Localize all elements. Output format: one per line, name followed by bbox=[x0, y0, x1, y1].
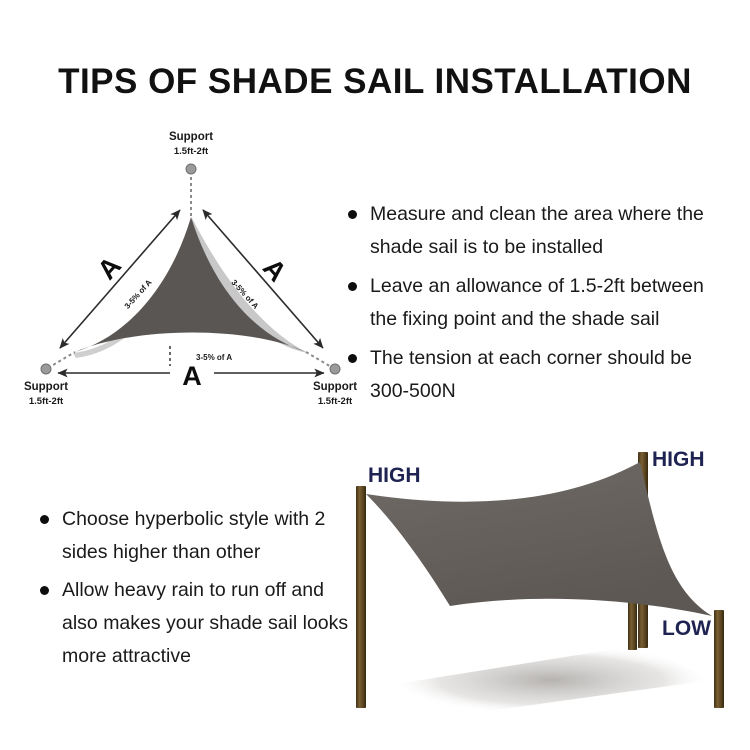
side-length-label-bottom: A bbox=[182, 361, 202, 391]
support-label-bottom-left-word: Support bbox=[24, 381, 68, 393]
post-front-low bbox=[714, 610, 724, 708]
hyperbolic-style-tips-list: Choose hyperbolic style with 2 sides hig… bbox=[40, 503, 352, 678]
support-label-top-measure: 1.5ft-2ft bbox=[174, 146, 209, 157]
corner-label-left-high: HIGH bbox=[368, 464, 421, 487]
list-item-text: Leave an allowance of 1.5-2ft between th… bbox=[370, 275, 704, 330]
list-item: Measure and clean the area where the sha… bbox=[348, 198, 720, 264]
tether-bottom-left bbox=[48, 352, 75, 368]
bullet-dot-icon bbox=[348, 210, 357, 219]
triangular-shade-sail-diagram: Support 1.5ft-2ft Support 1.5ft-2ft Supp… bbox=[18, 118, 363, 413]
installation-tips-list: Measure and clean the area where the sha… bbox=[348, 198, 720, 414]
anchor-point-bottom-left bbox=[41, 364, 51, 374]
list-item: Choose hyperbolic style with 2 sides hig… bbox=[40, 503, 352, 569]
list-item-text: Choose hyperbolic style with 2 sides hig… bbox=[62, 508, 325, 563]
anchor-point-top bbox=[186, 164, 196, 174]
anchor-point-bottom-right bbox=[330, 364, 340, 374]
list-item: Allow heavy rain to run off and also mak… bbox=[40, 574, 352, 673]
tether-bottom-right bbox=[306, 352, 333, 368]
post-left-high bbox=[356, 486, 366, 708]
page-title: TIPS OF SHADE SAIL INSTALLATION bbox=[0, 62, 750, 102]
bullet-dot-icon bbox=[40, 515, 49, 524]
ground-shadow bbox=[390, 645, 712, 715]
list-item-text: Measure and clean the area where the sha… bbox=[370, 203, 704, 258]
side-length-label-right: A bbox=[257, 253, 292, 288]
bullet-dot-icon bbox=[348, 354, 357, 363]
bullet-dot-icon bbox=[348, 282, 357, 291]
list-item-text: Allow heavy rain to run off and also mak… bbox=[62, 579, 348, 667]
bullet-dot-icon bbox=[40, 586, 49, 595]
hyperbolic-shade-sail-diagram: HIGH HIGH LOW bbox=[340, 430, 742, 722]
support-label-top-word: Support bbox=[169, 131, 213, 143]
side-length-label-left: A bbox=[92, 251, 127, 286]
list-item: The tension at each corner should be 300… bbox=[348, 342, 720, 408]
post-middle bbox=[628, 602, 637, 650]
support-label-bottom-left-measure: 1.5ft-2ft bbox=[29, 396, 64, 407]
list-item-text: The tension at each corner should be 300… bbox=[370, 347, 692, 402]
infographic-page: TIPS OF SHADE SAIL INSTALLATION bbox=[0, 0, 750, 750]
corner-label-front-low: LOW bbox=[662, 617, 711, 640]
list-item: Leave an allowance of 1.5-2ft between th… bbox=[348, 270, 720, 336]
corner-label-right-high: HIGH bbox=[652, 448, 705, 471]
